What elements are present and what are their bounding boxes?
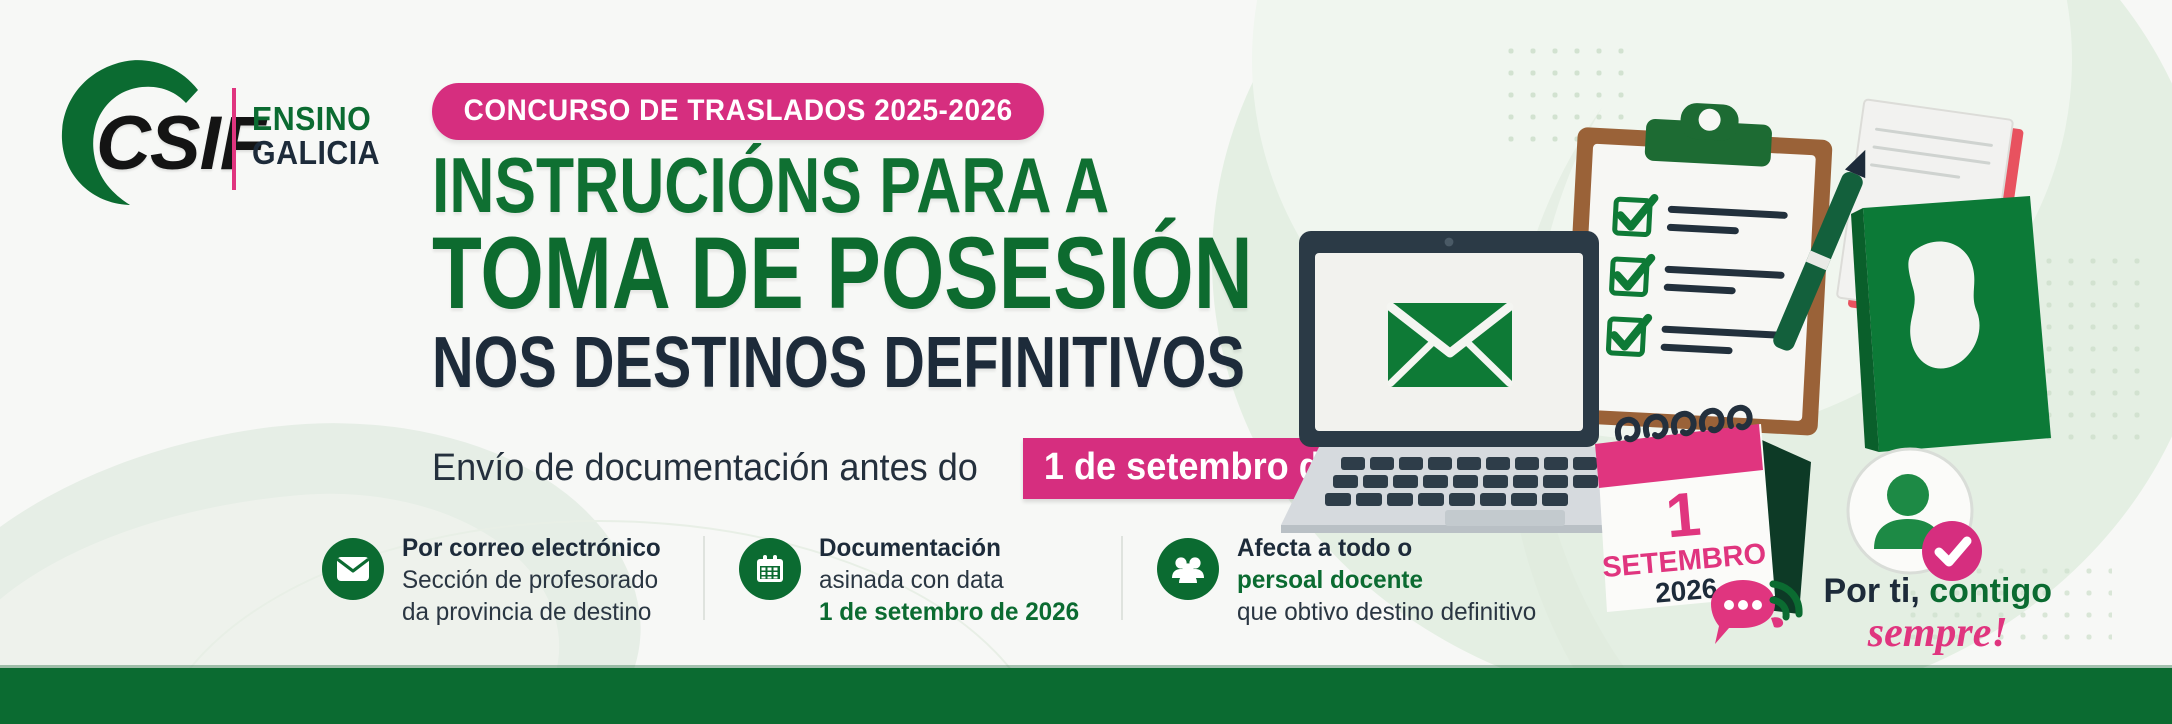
feature-item-date: Documentación asinada con data 1 de sete… <box>703 530 1121 628</box>
headline-line-2: TOMA DE POSESIÓN <box>432 215 1253 332</box>
campaign-badge: CONCURSO DE TRASLADOS 2025-2026 <box>432 83 1044 140</box>
tagline: Por ti, contigo sempre! <box>1705 574 2052 654</box>
logo-divider <box>232 88 236 190</box>
logo-subtitle-galicia: GALICIA <box>252 136 380 170</box>
feature-date-line2: asinada con data <box>819 564 1079 596</box>
banner: CSIF ENSINO GALICIA CONCURSO DE TRASLADO… <box>0 0 2172 724</box>
deadline-text: Envío de documentación antes do <box>432 447 978 490</box>
feature-email-line3: da provincia de destino <box>402 596 661 628</box>
feature-date-line3: 1 de setembro de 2026 <box>819 596 1079 628</box>
people-icon <box>1157 538 1219 600</box>
csif-wordmark: CSIF <box>96 100 265 187</box>
speech-bubble-wifi-icon <box>1705 574 1809 654</box>
svg-text:1: 1 <box>1663 480 1703 552</box>
feature-email-line2: Sección de profesorado <box>402 564 661 596</box>
feature-item-email: Por correo electrónico Sección de profes… <box>322 530 703 628</box>
logo-subtitle-ensino: ENSINO <box>252 102 380 136</box>
logo-subtitle: ENSINO GALICIA <box>252 102 391 171</box>
tagline-words: Por ti, contigo sempre! <box>1823 574 2052 654</box>
csif-logo[interactable]: CSIF ENSINO GALICIA <box>44 52 394 212</box>
illustration: 1 SETEMBRO 2026 <box>1255 60 2155 660</box>
feature-email-line1: Por correo electrónico <box>402 532 661 564</box>
bottom-bar <box>0 668 2172 724</box>
calendar-icon <box>739 538 801 600</box>
tagline-part-a: Por ti, <box>1823 572 1929 610</box>
feature-text-date: Documentación asinada con data 1 de sete… <box>819 530 1087 628</box>
feature-text-email: Por correo electrónico Sección de profes… <box>402 530 669 628</box>
tagline-line-1: Por ti, contigo <box>1823 574 2052 608</box>
tagline-part-b: contigo <box>1929 572 2052 610</box>
envelope-icon <box>322 538 384 600</box>
feature-date-line1: Documentación <box>819 532 1079 564</box>
headline-line-3: NOS DESTINOS DEFINITIVOS <box>432 322 1245 404</box>
laptop-with-email <box>1275 225 1635 525</box>
green-book-galicia-map <box>1845 190 2095 470</box>
tagline-line-2: sempre! <box>1823 612 2052 654</box>
